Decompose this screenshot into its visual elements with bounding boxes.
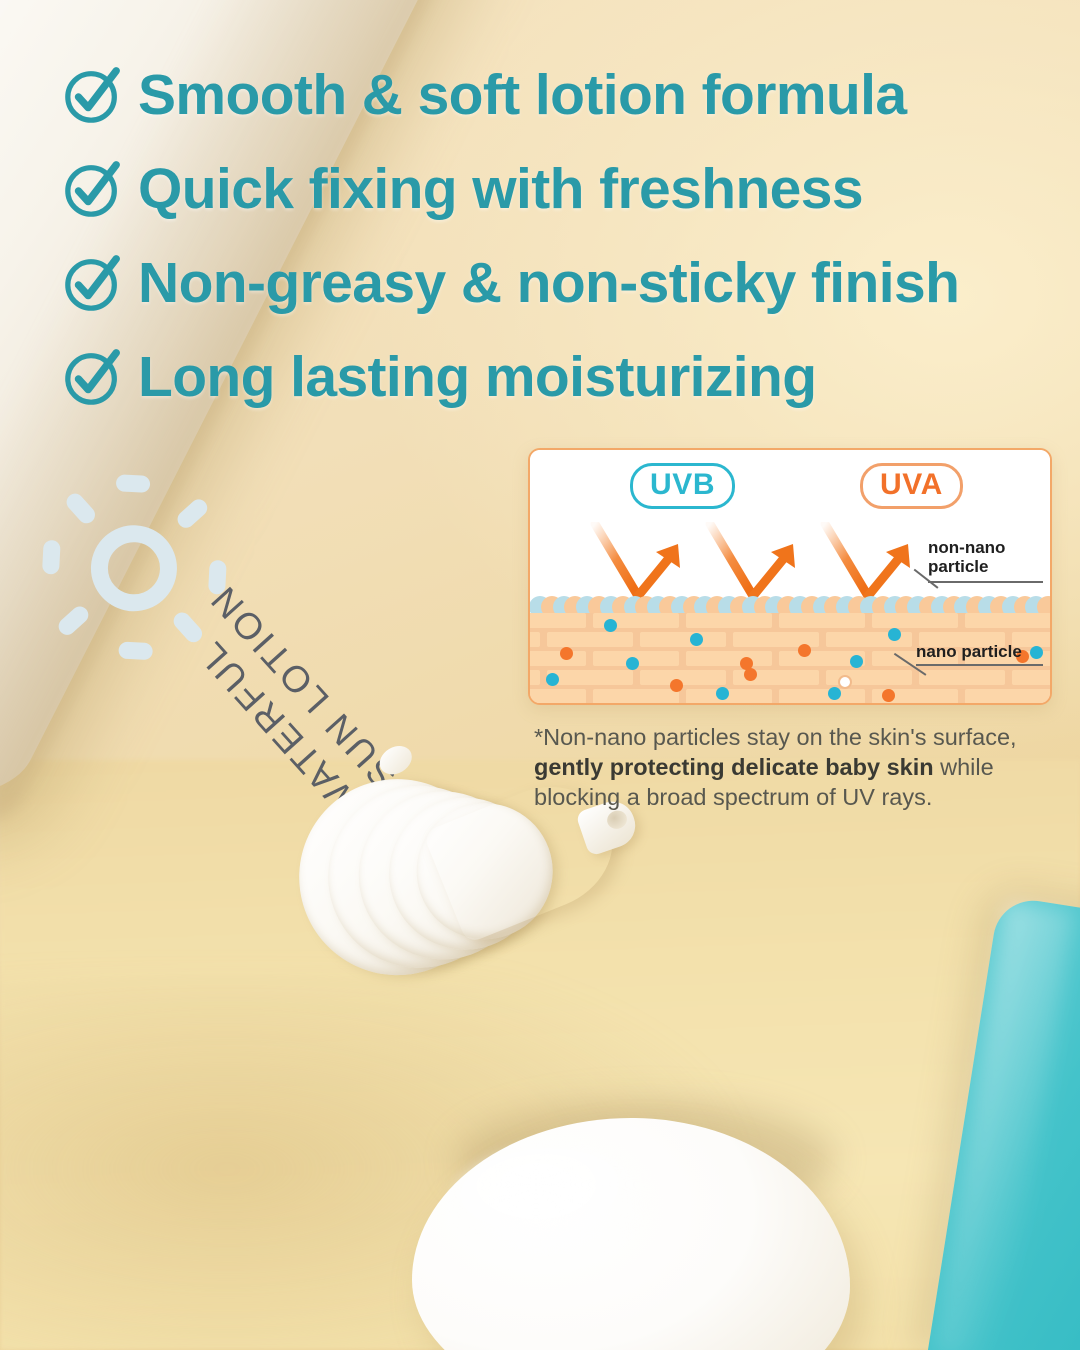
diagram-caption: *Non-nano particles stay on the skin's s… xyxy=(534,722,1054,812)
brick xyxy=(965,689,1050,703)
nano-particle xyxy=(828,687,841,700)
nano-particle xyxy=(626,657,639,670)
feature-item-4: Long lasting moisturizing xyxy=(62,330,1052,424)
brick-row xyxy=(530,689,1050,703)
uvb-badge: UVB xyxy=(630,463,735,509)
brick xyxy=(530,670,540,685)
brick xyxy=(547,632,633,647)
nano-leader-line xyxy=(916,664,1043,666)
feature-label: Quick fixing with freshness xyxy=(138,161,863,218)
caption-line-2-tail: while xyxy=(934,754,994,780)
brick xyxy=(686,689,772,703)
brick xyxy=(686,651,772,666)
check-circle-icon xyxy=(62,346,124,408)
product-marketing-image: WATERFUL SUN LOTION Smooth & soft lotion… xyxy=(0,0,1080,1350)
nano-particle xyxy=(560,647,573,660)
brick xyxy=(640,632,726,647)
brick-row xyxy=(530,670,1050,689)
brick xyxy=(547,670,633,685)
nano-particle xyxy=(604,619,617,632)
nano-particle xyxy=(670,679,683,692)
feature-label: Long lasting moisturizing xyxy=(138,349,816,406)
brick xyxy=(919,670,1005,685)
nano-particle xyxy=(1030,646,1043,659)
brick xyxy=(779,613,865,628)
nano-particle-outline xyxy=(838,675,852,689)
lotion-blob-highlight xyxy=(452,1146,662,1256)
feature-item-1: Smooth & soft lotion formula xyxy=(62,48,1052,142)
nano-callout: nano particle xyxy=(916,642,1022,661)
check-circle-icon xyxy=(62,64,124,126)
non-nano-callout-line-2: particle xyxy=(928,557,1005,576)
nano-particle xyxy=(690,633,703,646)
feature-item-3: Non-greasy & non-sticky finish xyxy=(62,236,1052,330)
nano-particle xyxy=(850,655,863,668)
uva-badge: UVA xyxy=(860,463,963,509)
feature-label: Smooth & soft lotion formula xyxy=(138,67,906,124)
brick xyxy=(530,689,586,703)
caption-line-1: *Non-nano particles stay on the skin's s… xyxy=(534,724,1017,750)
brick xyxy=(965,613,1050,628)
sun-icon-core xyxy=(73,508,194,629)
non-nano-callout: non-nano particle xyxy=(928,538,1005,576)
uv-ray-arrow xyxy=(590,522,720,604)
check-circle-icon xyxy=(62,158,124,220)
brick xyxy=(530,651,586,666)
uv-ray-arrow xyxy=(705,522,835,604)
nano-particle xyxy=(882,689,895,702)
nano-particle xyxy=(744,668,757,681)
uv-protection-diagram: UVB UVA xyxy=(528,448,1052,705)
non-nano-callout-line-1: non-nano xyxy=(928,538,1005,557)
brick xyxy=(593,689,679,703)
check-circle-icon xyxy=(62,252,124,314)
feature-list: Smooth & soft lotion formula Quick fixin… xyxy=(62,48,1052,424)
brick xyxy=(686,613,772,628)
feature-item-2: Quick fixing with freshness xyxy=(62,142,1052,236)
brick xyxy=(1012,670,1051,685)
nano-particle xyxy=(716,687,729,700)
brick xyxy=(530,632,540,647)
nano-particle xyxy=(798,644,811,657)
nano-particle xyxy=(546,673,559,686)
caption-bold: gently protecting delicate baby skin xyxy=(534,754,934,780)
brick xyxy=(530,613,586,628)
nano-callout-label: nano particle xyxy=(916,642,1022,661)
nano-particle xyxy=(888,628,901,641)
feature-label: Non-greasy & non-sticky finish xyxy=(138,255,959,312)
non-nano-leader-line xyxy=(928,581,1043,583)
brick xyxy=(872,613,958,628)
brick xyxy=(779,689,865,703)
caption-line-3: blocking a broad spectrum of UV rays. xyxy=(534,784,932,810)
